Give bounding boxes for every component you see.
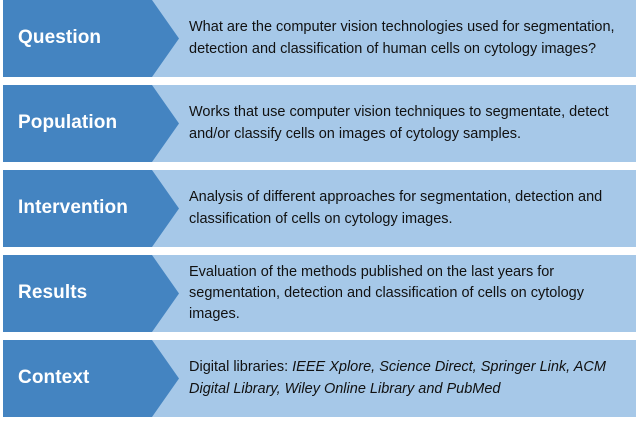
row-label-arrow-population: Population (3, 85, 178, 162)
row-description-text: Digital libraries: IEEE Xplore, Science … (189, 357, 620, 399)
row-label-arrow-results: Results (3, 255, 178, 332)
table-row: Context Digital libraries: IEEE Xplore, … (3, 340, 636, 417)
row-description-results: Evaluation of the methods published on t… (178, 255, 636, 332)
row-description-text: Evaluation of the methods published on t… (189, 262, 620, 325)
pico-framework-table: Question What are the computer vision te… (0, 0, 640, 428)
row-label-text: Question (3, 28, 101, 49)
row-label-arrow-context: Context (3, 340, 178, 417)
row-description-context: Digital libraries: IEEE Xplore, Science … (178, 340, 636, 417)
row-description-question: What are the computer vision technologie… (178, 0, 636, 77)
table-row: Question What are the computer vision te… (3, 0, 636, 77)
table-row: Results Evaluation of the methods publis… (3, 255, 636, 332)
row-label-text: Context (3, 368, 89, 389)
table-row: Intervention Analysis of different appro… (3, 170, 636, 247)
row-description-population: Works that use computer vision technique… (178, 85, 636, 162)
row-label-text: Population (3, 113, 117, 134)
table-row: Population Works that use computer visio… (3, 85, 636, 162)
row-label-arrow-intervention: Intervention (3, 170, 178, 247)
row-description-text: What are the computer vision technologie… (189, 17, 620, 59)
row-description-text: Analysis of different approaches for seg… (189, 187, 620, 229)
row-label-text: Results (3, 283, 87, 304)
row-description-text: Works that use computer vision technique… (189, 102, 620, 144)
row-description-intervention: Analysis of different approaches for seg… (178, 170, 636, 247)
row-label-arrow-question: Question (3, 0, 178, 77)
row-label-text: Intervention (3, 198, 128, 219)
